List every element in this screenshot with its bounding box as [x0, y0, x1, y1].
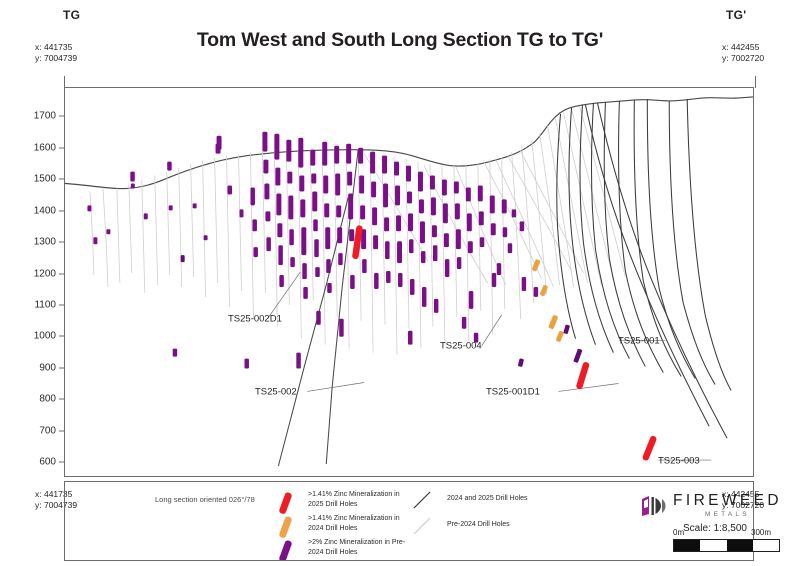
legend-trace-lines — [410, 490, 436, 540]
fireweed-mark-icon — [640, 495, 666, 517]
section-end-label: TG' — [726, 8, 746, 22]
brand-name: FIREWEED — [673, 493, 782, 509]
legend-label-modern-traces: 2024 and 2025 Drill Holes — [447, 494, 577, 504]
drill-hole-label-ts25-001: TS25-001 — [618, 336, 660, 347]
long-section-figure: TG x: 441735y: 7004739 TG' x: 442455y: 7… — [0, 0, 800, 566]
scale-bar — [673, 539, 780, 552]
page-title: Tom West and South Long Section TG to TG… — [0, 29, 800, 52]
section-start-label: TG — [63, 8, 80, 22]
legend-label-orange: >1.41% Zinc Mineralization in 2024 Drill… — [308, 514, 413, 533]
drill-hole-label-ts25-004: TS25-004 — [440, 341, 482, 352]
top-left-y: y: 7004739 — [35, 53, 77, 63]
modern-drill-traces — [557, 99, 731, 438]
geology-canvas — [65, 88, 753, 476]
axis-cap-top-left — [64, 76, 65, 88]
drill-hole-label-ts25-003: TS25-003 — [658, 456, 700, 467]
scale-bar-segment — [727, 540, 753, 551]
orange-mineralization-intervals — [532, 259, 565, 343]
scale-bar-segment — [674, 540, 700, 551]
scale-left-label: 0m — [673, 528, 684, 537]
legend-panel: Long section oriented 026°/78 >1.41% Zin… — [64, 481, 754, 561]
scale-right-label: 300m — [751, 528, 771, 537]
cross-section-plot: 1700160015001400130012001100100090080070… — [64, 87, 754, 477]
legend-swatches — [270, 488, 306, 560]
fireweed-logo: FIREWEED METALS — [640, 493, 782, 518]
legend-label-pre2024-traces: Pre-2024 Drill Holes — [447, 520, 577, 530]
orientation-note: Long section oriented 026°/78 — [155, 495, 255, 504]
scale-text: Scale: 1:8,500 — [683, 523, 747, 534]
brand-subtitle: METALS — [705, 512, 782, 519]
legend-label-red: >1.41% Zinc Mineralization in 2025 Drill… — [308, 490, 413, 509]
legend-label-purple: >2% Zinc Mineralization in Pre-2024 Dril… — [308, 538, 413, 557]
scale-bar-segment — [700, 540, 726, 551]
drill-hole-label-ts25-001d1: TS25-001D1 — [486, 387, 540, 398]
top-right-y: y: 7002720 — [722, 53, 764, 63]
drill-hole-label-ts25-002: TS25-002 — [255, 387, 297, 398]
drill-hole-label-ts25-002d1: TS25-002D1 — [228, 314, 282, 325]
fireweed-wordmark: FIREWEED METALS — [673, 493, 782, 518]
scale-bar-segment — [753, 540, 779, 551]
axis-cap-top-right — [755, 76, 756, 88]
